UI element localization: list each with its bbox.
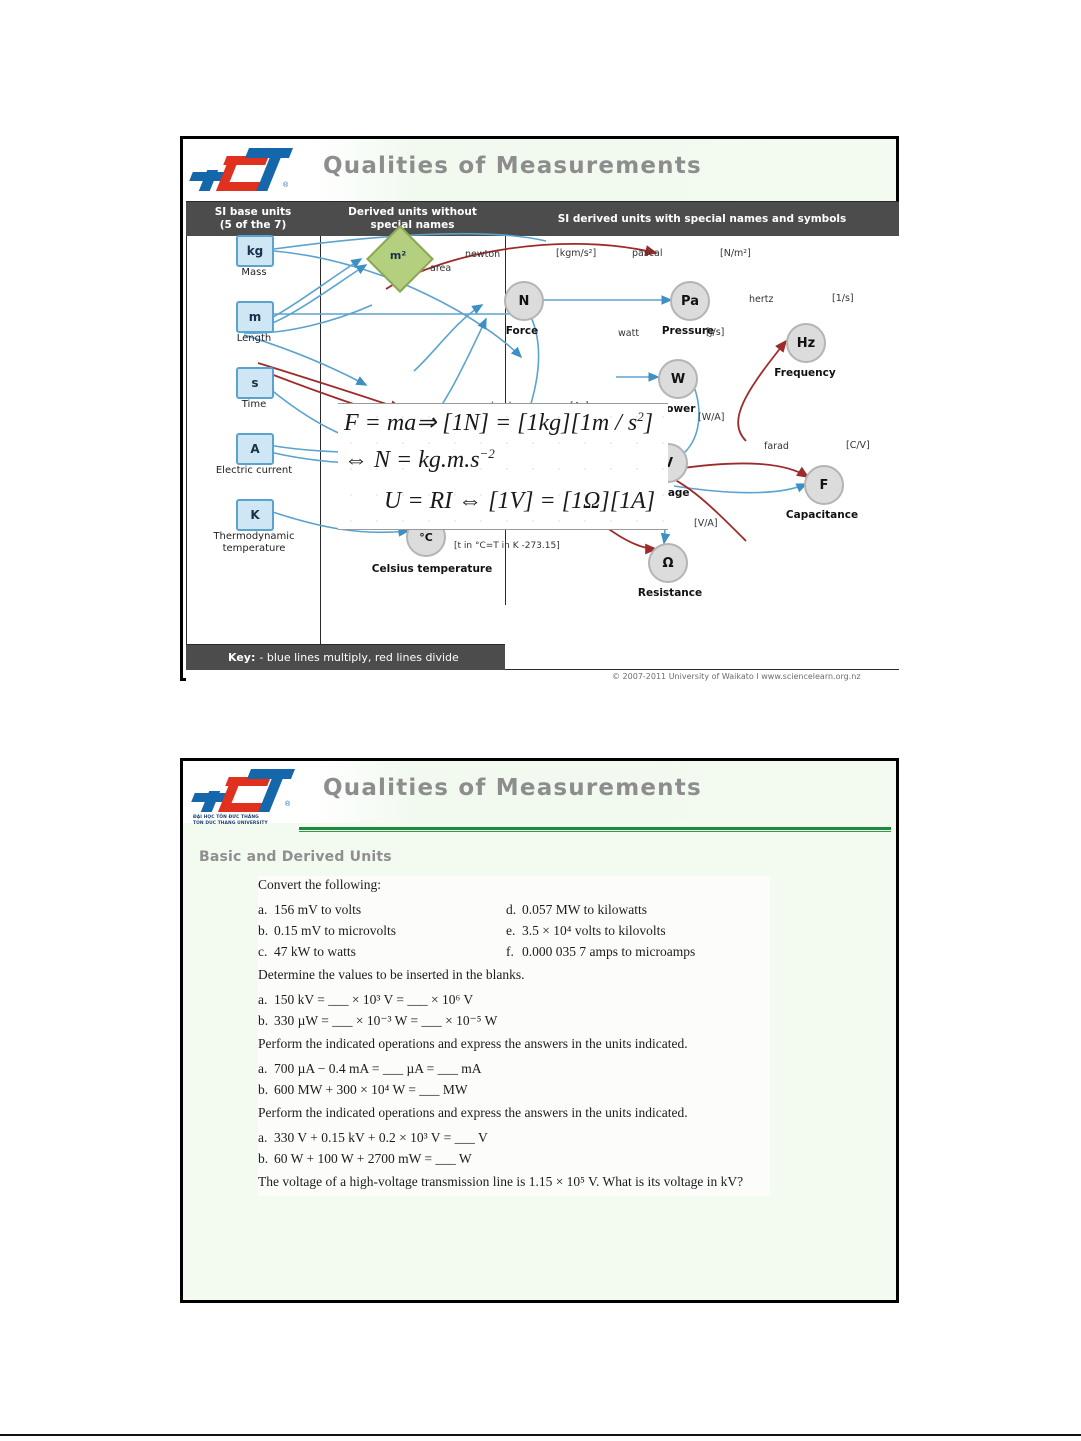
convert-columns: a.156 mV to volts b.0.15 mV to microvolt… <box>258 899 770 962</box>
final-question: The voltage of a high-voltage transmissi… <box>258 1173 770 1190</box>
key-bold-label: Key: <box>228 651 255 664</box>
section-title: Basic and Derived Units <box>199 849 392 865</box>
diagram-key-bar: Key: - blue lines multiply, red lines di… <box>186 645 505 670</box>
item-label: b. <box>258 1148 274 1169</box>
registered-mark: ® <box>283 182 288 189</box>
item-label: b. <box>258 1010 274 1031</box>
base-unit-label-length: Length <box>204 333 304 345</box>
base-unit-box-k: K <box>236 499 274 531</box>
item-text: 150 kV = ___ × 10³ V = ___ × 10⁶ V <box>274 992 473 1007</box>
derived-circle-watt: W <box>658 359 698 399</box>
eq1b: ⇒ [1N] = [1kg][1m / s <box>416 410 637 436</box>
list-item: a.330 V + 0.15 kV + 0.2 × 10³ V = ___ V <box>258 1127 770 1148</box>
item-text: 60 W + 100 W + 2700 mW = ___ W <box>274 1151 472 1166</box>
list-item: e.3.5 × 10⁴ volts to kilovolts <box>506 920 768 941</box>
diagram-credit: © 2007-2011 University of Waikato I www.… <box>612 672 861 681</box>
newton-name: Force <box>486 325 558 337</box>
derived-diamond-area-label: m² <box>376 249 420 262</box>
watt-word: watt <box>618 328 639 339</box>
item-label: f. <box>506 941 522 962</box>
celsius-note: [t in °C=T in K -273.15] <box>454 541 560 551</box>
item-label: c. <box>258 941 274 962</box>
list-item: b.0.15 mV to microvolts <box>258 920 506 941</box>
base-unit-box-s: s <box>236 367 274 399</box>
convert-column-right: d.0.057 MW to kilowatts e.3.5 × 10⁴ volt… <box>506 899 768 962</box>
item-label: b. <box>258 920 274 941</box>
eq1a: F = ma <box>344 410 416 436</box>
slide-basic-derived-units: ® ĐẠI HỌC TÔN ĐỨC THẮNG TON DUC THANG UN… <box>180 758 899 1303</box>
farad-dim: [C/V] <box>846 440 870 451</box>
equation-line-3: U = RI ⇔ [1V] = [1Ω][1A] <box>384 488 655 515</box>
green-divider-thin <box>299 831 891 832</box>
list-item: b.60 W + 100 W + 2700 mW = ___ W <box>258 1148 770 1169</box>
item-text: 330 V + 0.15 kV + 0.2 × 10³ V = ___ V <box>274 1130 488 1145</box>
page-bottom-rule <box>0 1434 1081 1436</box>
intro-convert: Convert the following: <box>258 876 770 893</box>
derived-circle-ohm: Ω <box>648 543 688 583</box>
temp-line2: temperature <box>223 543 286 554</box>
item-text: 700 µA − 0.4 mA = ___ µA = ___ mA <box>274 1061 482 1076</box>
slide2-title: Qualities of Measurements <box>323 775 702 801</box>
eq2-sup: −2 <box>480 446 495 461</box>
intro-blanks: Determine the values to be inserted in t… <box>258 966 770 983</box>
base-unit-label-temperature: Thermodynamic temperature <box>192 531 316 555</box>
base-unit-box-a: A <box>236 433 274 465</box>
temp-line1: Thermodynamic <box>213 531 294 542</box>
item-label: a. <box>258 899 274 920</box>
hertz-dim: [1/s] <box>832 293 854 304</box>
farad-word: farad <box>764 441 789 452</box>
si-units-diagram: SI base units (5 of the 7) Derived units… <box>186 201 899 681</box>
list-item: c.47 kW to watts <box>258 941 506 962</box>
document-page: ® Qualities of Measurements SI base unit… <box>0 0 1081 1441</box>
newton-word: newton <box>465 249 500 260</box>
exercise-body: Convert the following: a.156 mV to volts… <box>258 876 770 1196</box>
item-text: 47 kW to watts <box>274 944 356 959</box>
list-item: a.700 µA − 0.4 mA = ___ µA = ___ mA <box>258 1058 770 1079</box>
tdt-logo-2: ® ĐẠI HỌC TÔN ĐỨC THẮNG TON DUC THANG UN… <box>191 767 299 815</box>
item-label: d. <box>506 899 522 920</box>
item-label: a. <box>258 1058 274 1079</box>
derived-circle-farad: F <box>804 465 844 505</box>
newton-dim: [kgm/s²] <box>556 248 596 259</box>
item-text: 600 MW + 300 × 10⁴ W = ___ MW <box>274 1082 468 1097</box>
hertz-word: hertz <box>749 294 773 305</box>
logo-subtitle-vn: ĐẠI HỌC TÔN ĐỨC THẮNG <box>193 815 259 820</box>
equation-overlay: F = ma⇒ [1N] = [1kg][1m / s2] ⇔ N = kg.m… <box>338 403 668 530</box>
volt-dim: [W/A] <box>698 412 725 423</box>
hertz-name: Frequency <box>764 367 846 379</box>
farad-name: Capacitance <box>772 509 872 521</box>
intro-ops-2: Perform the indicated operations and exp… <box>258 1104 770 1121</box>
pascal-word: pascal <box>632 248 663 259</box>
base-unit-label-mass: Mass <box>204 267 304 279</box>
item-text: 0.000 035 7 amps to microamps <box>522 944 695 959</box>
registered-mark-2: ® <box>285 801 290 808</box>
list-item: b.330 µW = ___ × 10⁻³ W = ___ × 10⁻⁵ W <box>258 1010 770 1031</box>
item-text: 156 mV to volts <box>274 902 361 917</box>
base-unit-box-m: m <box>236 301 274 333</box>
derived-area-name: area <box>430 263 451 274</box>
slide-si-units-diagram: ® Qualities of Measurements SI base unit… <box>180 136 899 681</box>
eq2: ⇔ N = kg.m.s <box>344 447 480 473</box>
base-unit-label-current: Electric current <box>194 465 314 477</box>
ohm-name: Resistance <box>630 587 710 599</box>
key-text: - blue lines multiply, red lines divide <box>259 651 458 664</box>
derived-circle-hertz: Hz <box>786 323 826 363</box>
logo-subtitle-en: TON DUC THANG UNIVERSITY <box>193 821 268 826</box>
list-item: f.0.000 035 7 amps to microamps <box>506 941 768 962</box>
item-text: 0.057 MW to kilowatts <box>522 902 647 917</box>
green-divider <box>299 827 891 830</box>
item-text: 3.5 × 10⁴ volts to kilovolts <box>522 923 666 938</box>
item-label: a. <box>258 1127 274 1148</box>
item-label: e. <box>506 920 522 941</box>
list-item: a.150 kV = ___ × 10³ V = ___ × 10⁶ V <box>258 989 770 1010</box>
derived-circle-pascal: Pa <box>670 281 710 321</box>
equation-line-1: F = ma⇒ [1N] = [1kg][1m / s2] <box>344 408 653 437</box>
ohm-dim: [V/A] <box>694 518 718 529</box>
item-text: 330 µW = ___ × 10⁻³ W = ___ × 10⁻⁵ W <box>274 1013 497 1028</box>
item-text: 0.15 mV to microvolts <box>274 923 396 938</box>
list-item: d.0.057 MW to kilowatts <box>506 899 768 920</box>
list-item: a.156 mV to volts <box>258 899 506 920</box>
tdt-logo: ® <box>189 146 297 194</box>
derived-circle-newton: N <box>504 281 544 321</box>
item-label: b. <box>258 1079 274 1100</box>
list-item: b.600 MW + 300 × 10⁴ W = ___ MW <box>258 1079 770 1100</box>
base-unit-box-kg: kg <box>236 235 274 267</box>
celsius-name: Celsius temperature <box>362 563 502 575</box>
watt-dim: [J/s] <box>706 327 724 338</box>
intro-ops-1: Perform the indicated operations and exp… <box>258 1035 770 1052</box>
slide1-title: Qualities of Measurements <box>323 153 702 179</box>
eq1c: ] <box>644 410 653 436</box>
base-unit-label-time: Time <box>204 399 304 411</box>
item-label: a. <box>258 989 274 1010</box>
equation-line-2: ⇔ N = kg.m.s−2 <box>344 446 495 474</box>
convert-column-left: a.156 mV to volts b.0.15 mV to microvolt… <box>258 899 506 962</box>
pascal-dim: [N/m²] <box>720 248 751 259</box>
